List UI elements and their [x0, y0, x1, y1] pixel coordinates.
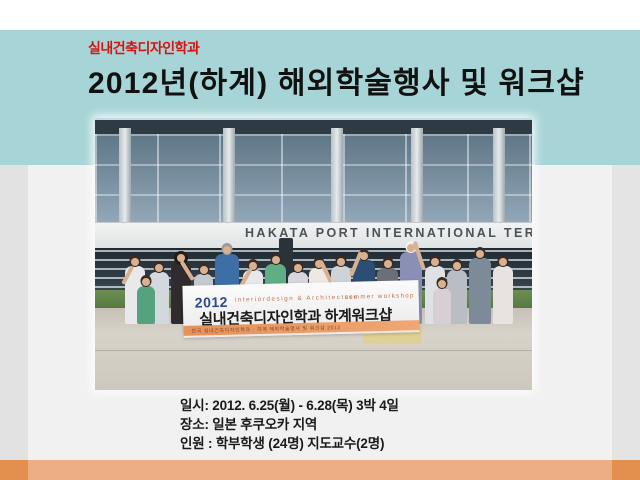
footer-band — [0, 460, 640, 480]
person-face — [438, 280, 446, 288]
body-right-edge — [612, 165, 640, 460]
department-label: 실내건축디자인학과 — [88, 38, 199, 58]
person — [137, 286, 155, 324]
person-face — [200, 266, 208, 274]
person — [433, 288, 451, 324]
footer-accent-left — [0, 460, 28, 480]
person-arm — [413, 241, 426, 271]
building-roof-band — [95, 120, 532, 134]
person-face — [499, 258, 507, 266]
person-face — [142, 278, 150, 286]
photo-content: HAKATA PORT INTERNATIONAL TERMINA — [95, 118, 532, 390]
person-arm — [180, 260, 195, 281]
person-face — [384, 260, 392, 268]
person-face — [431, 258, 439, 266]
person-face — [223, 246, 231, 254]
person-arm — [349, 251, 362, 277]
person-face — [453, 262, 461, 270]
body-left-edge — [0, 165, 28, 460]
person-face — [131, 258, 139, 266]
presentation-slide: 실내건축디자인학과 2012년(하계) 해외학술행사 및 워크샵 HAKATA … — [0, 0, 640, 480]
person-face — [476, 250, 484, 258]
group-photo: HAKATA PORT INTERNATIONAL TERMINA — [95, 118, 532, 390]
banner-english-right: summer workshop — [345, 292, 415, 301]
ground-seam — [95, 350, 532, 351]
top-white-strip — [0, 0, 640, 30]
event-detail-location: 장소: 일본 후쿠오카 지역 — [180, 415, 520, 434]
event-detail-people: 인원 : 학부학생 (24명) 지도교수(2명) — [180, 434, 520, 453]
person-face — [272, 256, 280, 264]
person-face — [155, 264, 163, 272]
person — [493, 266, 513, 324]
person-face — [294, 264, 302, 272]
person-face — [337, 258, 345, 266]
person — [469, 258, 491, 324]
page-title: 2012년(하계) 해외학술행사 및 워크샵 — [88, 58, 585, 102]
footer-accent-right — [612, 460, 640, 480]
workshop-banner: 2012 interiordesign & Architecture summe… — [182, 280, 419, 338]
person-arm — [121, 265, 134, 285]
event-detail-date: 일시: 2012. 6.25(월) - 6.28(목) 3박 4일 — [180, 396, 520, 415]
banner-english-left: interiordesign & Architecture — [235, 294, 359, 304]
building-glass-facade — [95, 134, 532, 224]
event-details: 일시: 2012. 6.25(월) - 6.28(목) 3박 4일 장소: 일본… — [180, 396, 520, 453]
